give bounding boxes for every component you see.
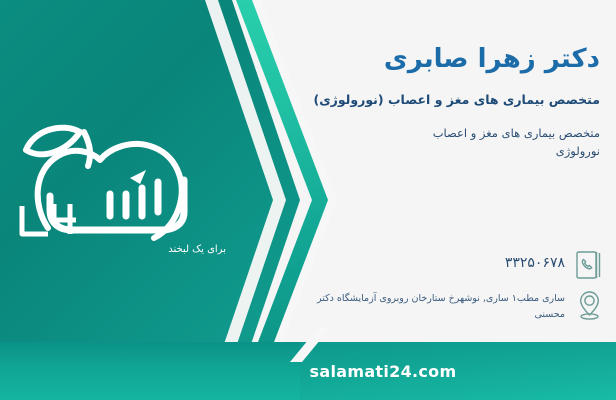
doctor-specialty-main: متخصص بیماری های مغز و اعصاب (نورولوژی) [306,92,600,107]
brand-tagline: برای یک لبخند [26,244,226,255]
specialty-sub-line-1: متخصص بیماری های مغز و اعصاب [364,125,600,143]
address-line-1: ساری مطب۱ ساری, نوشهرخ ستارخان روبروی آز… [317,293,565,304]
card-content: دکتر زهرا صابری متخصص بیماری های مغز و ا… [290,0,616,400]
business-card: برای یک لبخند www.salamati24.com دکتر زه… [0,0,616,400]
phone-book-icon [574,248,604,282]
address-text: ساری مطب۱ ساری, نوشهرخ ستارخان روبروی آز… [304,288,565,323]
contact-phone-row[interactable]: ۳۳۲۵۰۶۷۸ [304,248,604,282]
map-pin-icon [574,288,604,322]
doctor-specialty-sub: متخصص بیماری های مغز و اعصاب نورولوژی [364,125,600,161]
address-line-2: محسنی [535,309,565,320]
contact-address-row[interactable]: ساری مطب۱ ساری, نوشهرخ ستارخان روبروی آز… [304,288,604,323]
phone-number: ۳۳۲۵۰۶۷۸ [304,248,565,271]
salamati-apple-logo-icon [14,108,234,248]
doctor-name: دکتر زهرا صابری [306,44,600,75]
brand-logo: برای یک لبخند www.salamati24.com [14,108,234,278]
specialty-sub-line-2: نورولوژی [364,143,600,161]
footer-website-link[interactable]: salamati24.com [0,342,616,400]
